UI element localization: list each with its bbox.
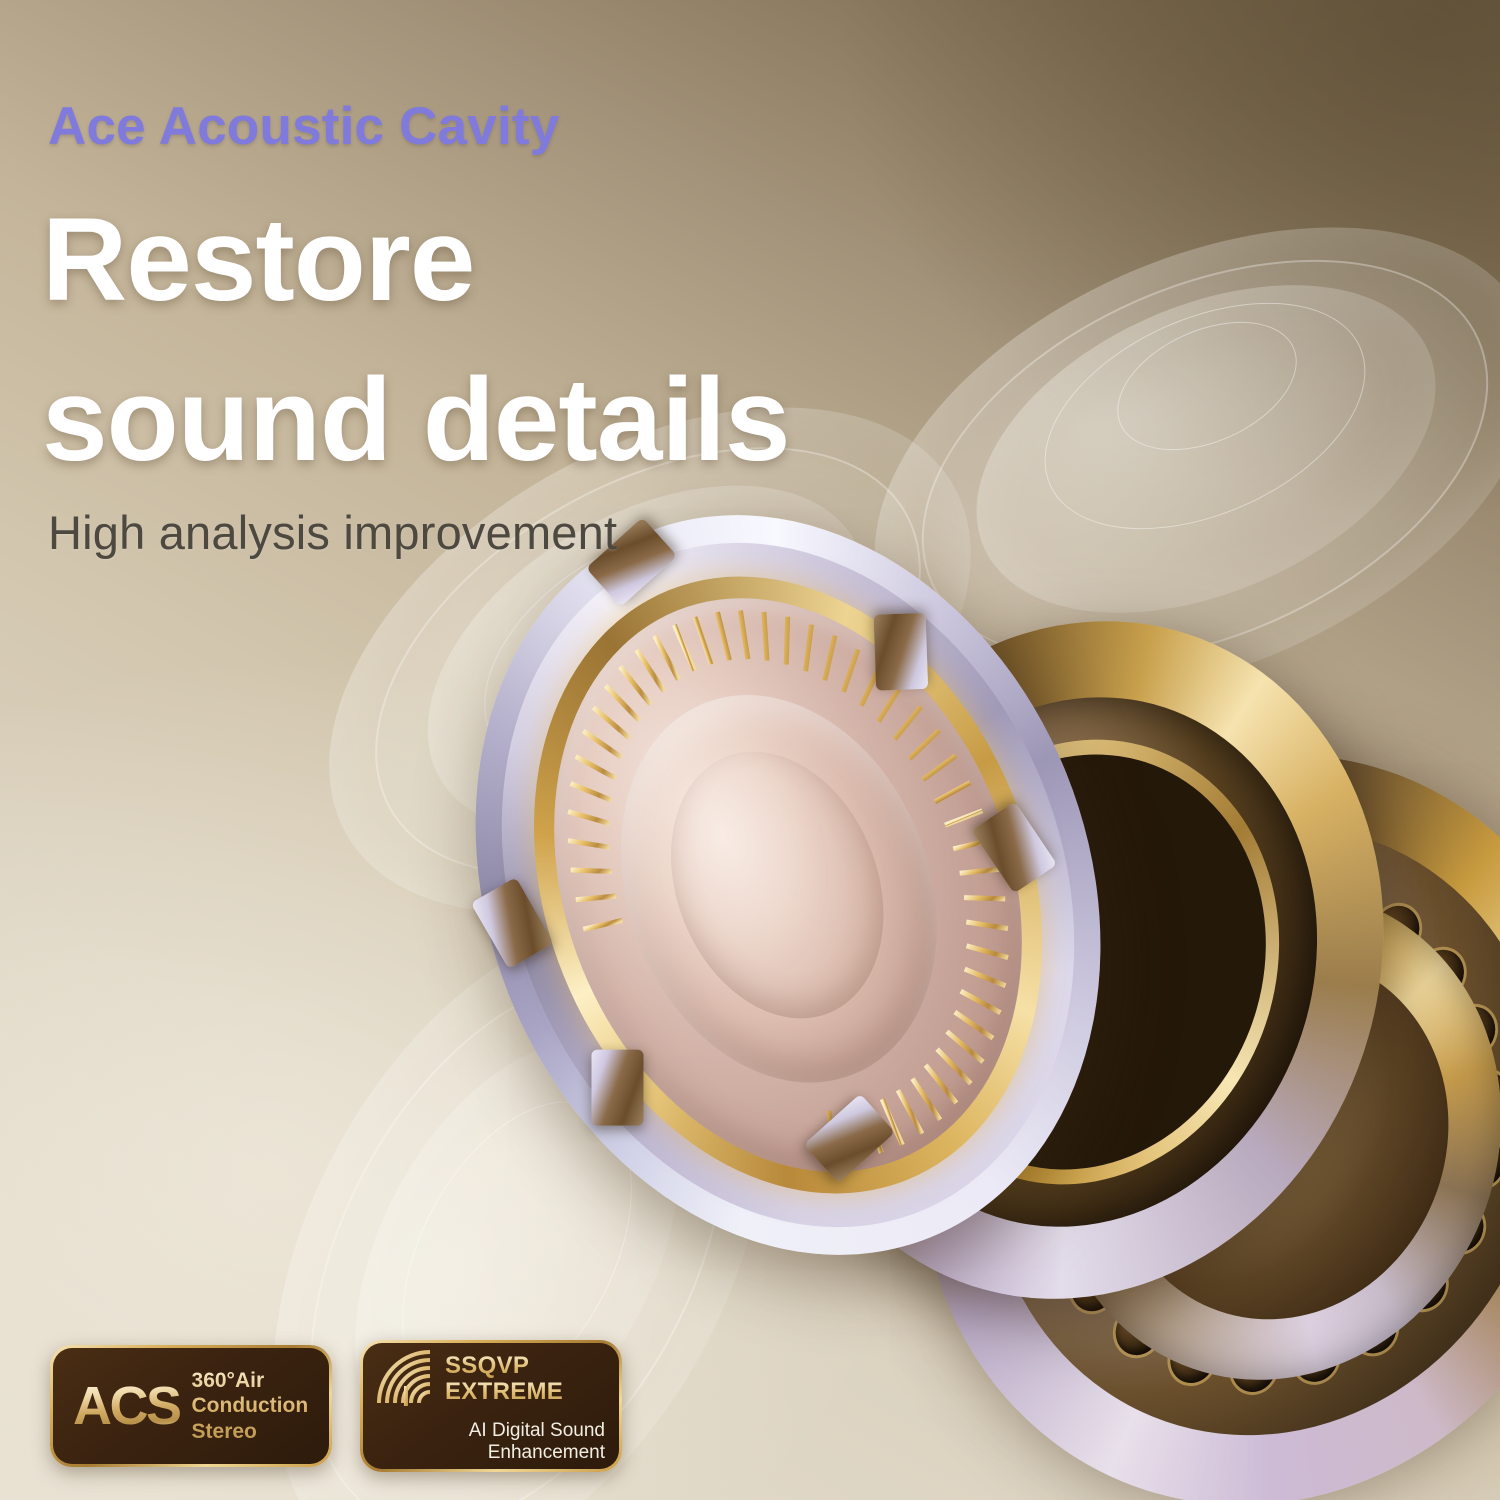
eyebrow-label: Ace Acoustic Cavity [48, 96, 559, 157]
product-poster: Ace Acoustic Cavity Restore sound detail… [0, 0, 1500, 1500]
headline-line-2: sound details [42, 340, 1002, 500]
ssqvp-logo-line-2: EXTREME [445, 1379, 563, 1405]
ssqvp-logo-line-1: SSQVP [445, 1353, 563, 1379]
headline-line-1: Restore [42, 194, 474, 326]
acs-line-3: Stereo [192, 1419, 309, 1445]
acs-badge-lines: 360°Air Conduction Stereo [192, 1368, 309, 1445]
acs-wordmark-icon: ACS [69, 1379, 180, 1433]
subtitle: High analysis improvement [48, 505, 617, 560]
acs-line-2: Conduction [192, 1393, 309, 1419]
acs-line-1: 360°Air [192, 1368, 309, 1394]
ssqvp-sub-text: AI Digital Sound Enhancement [375, 1420, 607, 1465]
ssqvp-sub-line-1: AI Digital Sound [375, 1420, 605, 1442]
page-title: Restore sound details [42, 180, 1002, 501]
badge-ssqvp[interactable]: SSQVP EXTREME AI Digital Sound Enhanceme… [360, 1340, 622, 1472]
badge-acs[interactable]: ACS 360°Air Conduction Stereo [50, 1345, 332, 1467]
ssqvp-sub-line-2: Enhancement [375, 1442, 605, 1464]
concentric-sound-arcs-icon [375, 1348, 437, 1410]
